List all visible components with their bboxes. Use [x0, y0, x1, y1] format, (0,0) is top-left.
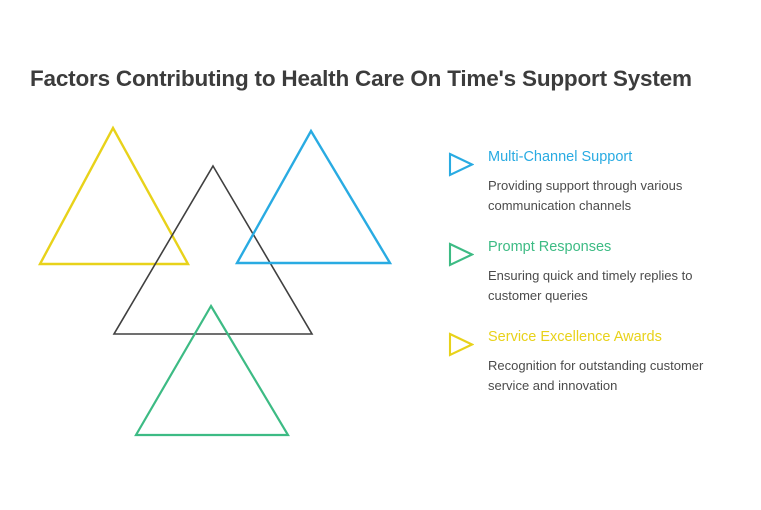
legend-item-service-excellence-awards[interactable]: Service Excellence Awards Recognition fo… — [446, 328, 746, 395]
legend-item-multi-channel-support[interactable]: Multi-Channel Support Providing support … — [446, 148, 746, 215]
legend-item-title: Prompt Responses — [488, 238, 746, 257]
green-triangle — [136, 306, 288, 435]
legend-item-description: Recognition for outstanding customer ser… — [488, 356, 724, 395]
triangle-right-icon — [448, 332, 474, 357]
triangle-right-icon — [448, 242, 474, 267]
yellow-triangle — [40, 128, 188, 264]
triangle-right-icon — [448, 152, 474, 177]
legend-item-title: Service Excellence Awards — [488, 328, 746, 347]
legend-item-description: Providing support through various commun… — [488, 176, 724, 215]
slide-canvas: Factors Contributing to Health Care On T… — [0, 0, 761, 510]
legend-item-description: Ensuring quick and timely replies to cus… — [488, 266, 724, 305]
legend-item-prompt-responses[interactable]: Prompt Responses Ensuring quick and time… — [446, 238, 746, 305]
page-title: Factors Contributing to Health Care On T… — [30, 65, 740, 93]
overlapping-triangles-diagram — [0, 100, 430, 460]
blue-triangle — [237, 131, 390, 263]
legend-item-title: Multi-Channel Support — [488, 148, 746, 167]
legend-list: Multi-Channel Support Providing support … — [446, 148, 746, 395]
